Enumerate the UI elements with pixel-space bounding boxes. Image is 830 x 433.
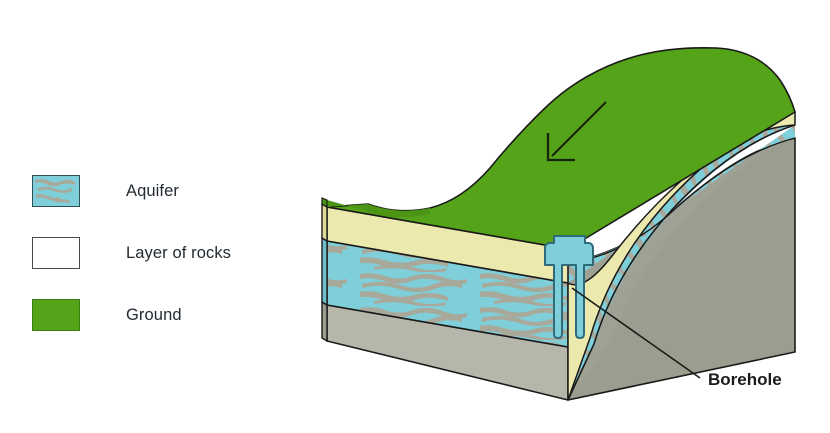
aquifer-left-face	[322, 238, 327, 305]
borehole-label: Borehole	[708, 370, 782, 389]
bedrock-left-face	[322, 302, 327, 341]
aquifer-block-diagram: Borehole	[0, 0, 830, 433]
rocks-left-face	[322, 204, 327, 241]
diagram-page: Aquifer Layer of rocks Ground	[0, 0, 830, 433]
